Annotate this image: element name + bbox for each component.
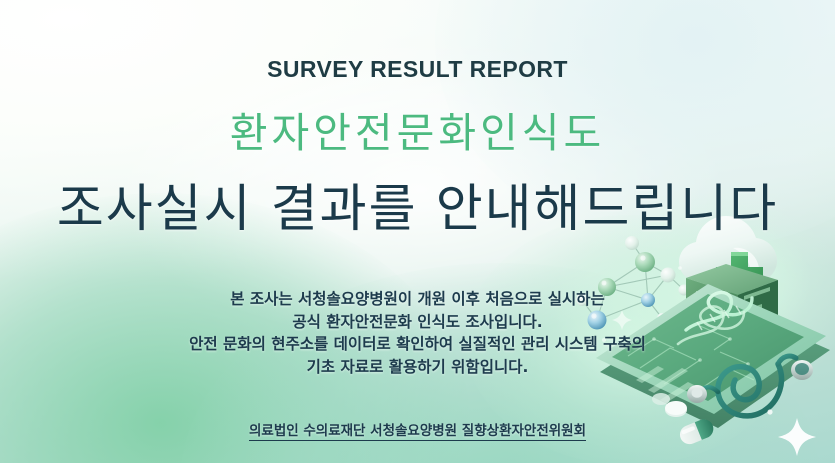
footer-credit-text: 의료법인 수의료재단 서청솔요양병원 질향상환자안전위원회 (249, 423, 586, 441)
body-line: 안전 문화의 현주소를 데이터로 확인하여 실질적인 관리 시스템 구축의 (0, 333, 835, 356)
body-line: 기초 자료로 활용하기 위함입니다. (0, 356, 835, 379)
body-line: 본 조사는 서청솔요양병원이 개원 이후 처음으로 실시하는 (0, 288, 835, 311)
poster-text-layer: SURVEY RESULT REPORT 환자안전문화인식도 조사실시 결과를 … (0, 0, 835, 463)
survey-report-poster: SURVEY RESULT REPORT 환자안전문화인식도 조사실시 결과를 … (0, 0, 835, 463)
headline-line-2: 조사실시 결과를 안내해드립니다 (0, 167, 835, 241)
report-eyebrow-label: SURVEY RESULT REPORT (0, 56, 835, 83)
footer-credit: 의료법인 수의료재단 서청솔요양병원 질향상환자안전위원회 (0, 419, 835, 439)
body-line: 공식 환자안전문화 인식도 조사입니다. (0, 311, 835, 334)
headline-line-1: 환자안전문화인식도 (0, 99, 835, 159)
body-paragraph: 본 조사는 서청솔요양병원이 개원 이후 처음으로 실시하는 공식 환자안전문화… (0, 288, 835, 378)
